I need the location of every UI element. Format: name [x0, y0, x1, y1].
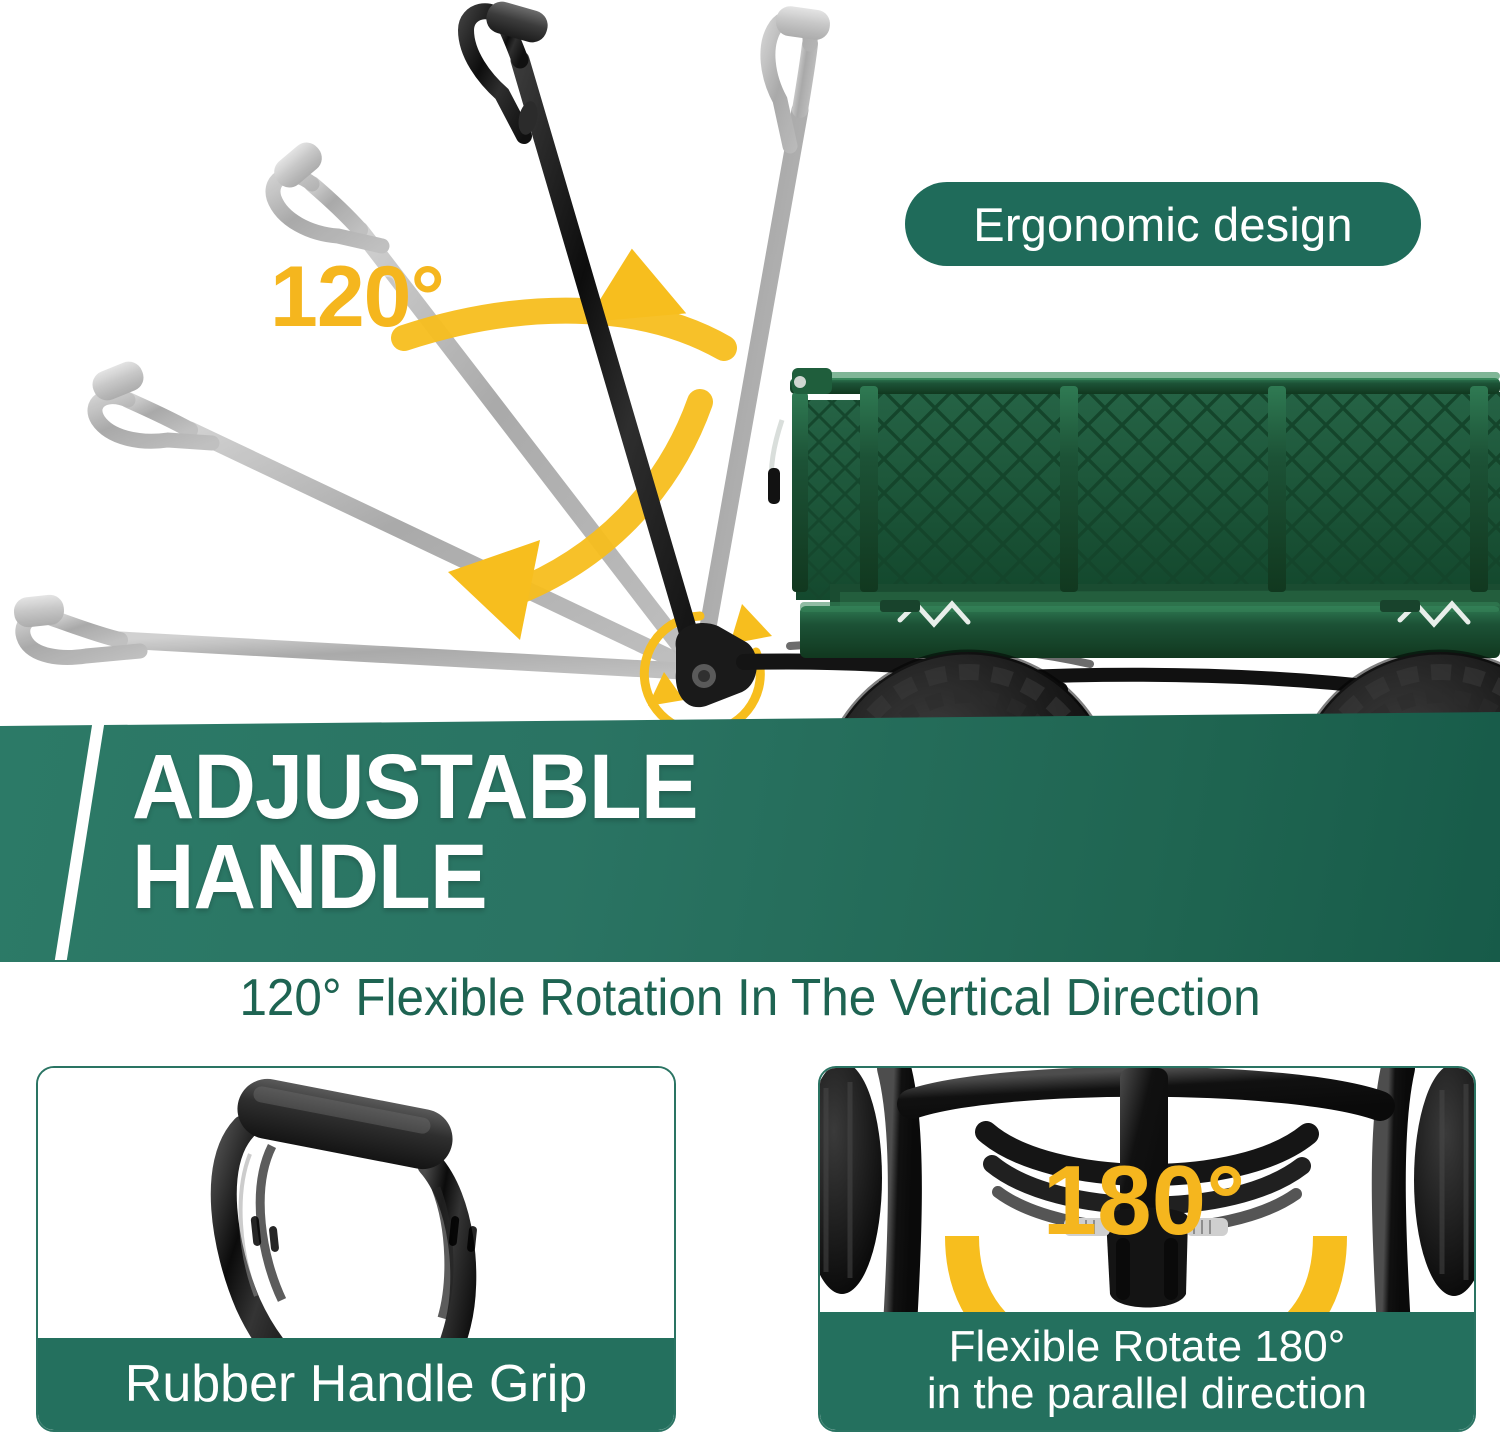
garden-cart-body: [768, 368, 1500, 658]
banner-subtitle: 120° Flexible Rotation In The Vertical D…: [38, 968, 1463, 1028]
caption-line-1: Flexible Rotate 180°: [927, 1324, 1367, 1371]
ergonomic-design-badge: Ergonomic design: [905, 182, 1421, 266]
rubber-handle-grip-caption: Rubber Handle Grip: [38, 1338, 674, 1430]
ghost-handle-2: [88, 357, 700, 672]
banner-title-line2: HANDLE: [132, 832, 698, 922]
ergonomic-design-label: Ergonomic design: [973, 197, 1352, 252]
flexible-rotate-180-caption: Flexible Rotate 180° in the parallel dir…: [820, 1312, 1474, 1430]
infographic-canvas: Ergonomic design 120° ADJUSTABLE HANDLE …: [0, 0, 1500, 1439]
ghost-handle-1: [13, 593, 700, 672]
card-rubber-handle-grip: Rubber Handle Grip: [36, 1066, 676, 1432]
caption-line-1: Rubber Handle Grip: [125, 1354, 587, 1414]
caption-line-2: in the parallel direction: [927, 1371, 1367, 1418]
svg-text:180°: 180°: [1043, 1145, 1246, 1255]
card-flexible-rotate-180: 180° Flexible Rotate 180° in the paralle…: [818, 1066, 1476, 1432]
banner-title-line1: ADJUSTABLE: [132, 742, 698, 832]
banner-title: ADJUSTABLE HANDLE: [132, 742, 698, 922]
angle-120-label: 120°: [270, 248, 444, 347]
